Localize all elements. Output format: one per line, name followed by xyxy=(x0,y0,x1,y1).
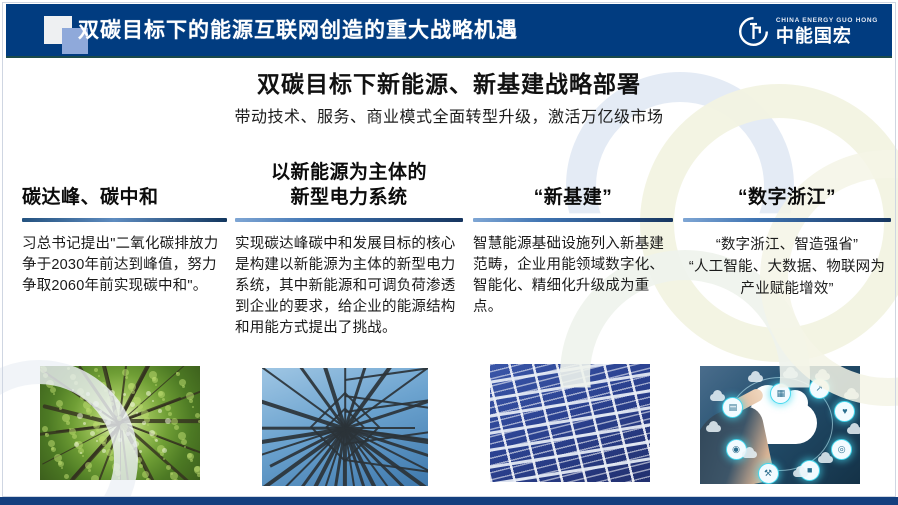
logo-english-name: CHINA ENERGY GUO HONG xyxy=(776,17,878,25)
column-body-text: “数字浙江、智造强省” “人工智能、大数据、物联网为产业赋能增效” xyxy=(683,234,891,300)
column-body-text: 智慧能源基础设施列入新基建范畴，企业用能领域数字化、智能化、精细化升级成为重点。 xyxy=(473,234,673,318)
slide: 双碳目标下的能源互联网创造的重大战略机遇 CHINA ENERGY GUO HO… xyxy=(0,0,898,505)
page-subtitle: 带动技术、服务、商业模式全面转型升级，激活万亿级市场 xyxy=(0,106,898,130)
column-new-infrastructure: “新基建” 智慧能源基础设施列入新基建范畴，企业用能领域数字化、智能化、精细化升… xyxy=(473,158,673,318)
column-divider xyxy=(473,218,673,222)
title-block: 双碳目标下新能源、新基建战略部署 带动技术、服务、商业模式全面转型升级，激活万亿… xyxy=(0,68,898,130)
header-underline xyxy=(6,56,892,58)
content-columns: 碳达峰、碳中和 习总书记提出"二氧化碳排放力争于2030年前达到峰值，努力争取2… xyxy=(0,158,898,498)
logo-mark-icon xyxy=(738,16,769,47)
bottom-accent-bar xyxy=(0,497,898,505)
column-divider xyxy=(683,218,891,222)
column-body-text: 实现碳达峰碳中和发展目标的核心是构建以新能源为主体的新型电力系统，其中新能源和可… xyxy=(235,234,463,339)
column-carbon-peak: 碳达峰、碳中和 习总书记提出"二氧化碳排放力争于2030年前达到峰值，努力争取2… xyxy=(22,158,227,297)
column-divider xyxy=(22,218,227,222)
page-title: 双碳目标下新能源、新基建战略部署 xyxy=(0,68,898,100)
column-divider xyxy=(235,218,463,222)
company-logo: CHINA ENERGY GUO HONG 中能国宏 xyxy=(738,14,878,48)
logo-text: CHINA ENERGY GUO HONG 中能国宏 xyxy=(776,17,878,46)
header-title: 双碳目标下的能源互联网创造的重大战略机遇 xyxy=(78,17,518,45)
column-new-power-system: 以新能源为主体的 新型电力系统 实现碳达峰碳中和发展目标的核心是构建以新能源为主… xyxy=(235,158,463,339)
column-heading: “数字浙江” xyxy=(683,158,891,210)
column-body-text: 习总书记提出"二氧化碳排放力争于2030年前达到峰值，努力争取2060年前实现碳… xyxy=(22,234,227,297)
column-heading: 碳达峰、碳中和 xyxy=(22,158,227,210)
logo-chinese-name: 中能国宏 xyxy=(776,26,878,46)
column-heading: 以新能源为主体的 新型电力系统 xyxy=(235,158,463,210)
column-digital-zhejiang: “数字浙江” “数字浙江、智造强省” “人工智能、大数据、物联网为产业赋能增效” xyxy=(683,158,891,300)
column-heading: “新基建” xyxy=(473,158,673,210)
header-bar: 双碳目标下的能源互联网创造的重大战略机遇 CHINA ENERGY GUO HO… xyxy=(6,4,892,56)
